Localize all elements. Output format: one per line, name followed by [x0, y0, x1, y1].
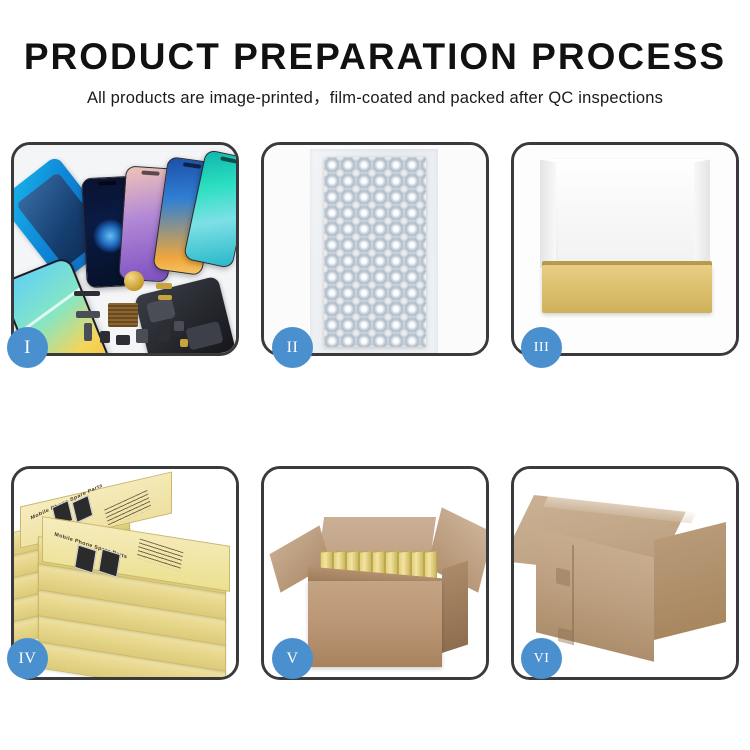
carton-seam: [572, 545, 574, 645]
notch-icon: [98, 181, 116, 186]
part-small: [158, 327, 170, 341]
step-badge-3: III: [521, 327, 562, 368]
carton-body: [308, 581, 442, 667]
lid-flap-right: [694, 160, 710, 271]
part-bar: [152, 311, 172, 319]
product-preparation-infographic: PRODUCT PREPARATION PROCESS All products…: [0, 0, 750, 750]
step-badge-6: VI: [521, 638, 562, 679]
notch-icon: [220, 156, 236, 164]
carton-tab: [556, 567, 570, 586]
part-flex-gold: [158, 295, 172, 300]
phone-screen-fan: [76, 153, 236, 293]
step-badge-2: II: [272, 327, 313, 368]
part-small: [84, 323, 92, 341]
bubble-wrap-texture: [324, 157, 426, 347]
step-1-photo: [14, 145, 236, 353]
step-3-photo: [514, 145, 736, 353]
step-panel-2: [261, 142, 489, 356]
carton-right-face: [654, 522, 726, 640]
part-bar: [76, 311, 100, 318]
part-flex-gold: [156, 283, 172, 289]
part-screw: [180, 339, 188, 347]
carton-side-panel: [442, 561, 468, 653]
step-4-photo: Mobile Phone Spare Parts Mobile Phone Sp…: [14, 469, 236, 677]
step-badge-4: IV: [7, 638, 48, 679]
part-small: [174, 321, 184, 331]
lid-flap-left: [540, 160, 556, 271]
step-badge-1: I: [7, 327, 48, 368]
part-small: [100, 331, 110, 343]
step-panel-1: [11, 142, 239, 356]
step-2-photo: [264, 145, 486, 353]
kraft-tray: [542, 265, 712, 313]
box-stack: Mobile Phone Spare Parts Mobile Phone Sp…: [14, 475, 236, 677]
notch-icon: [141, 171, 159, 176]
speaker-part: [124, 271, 144, 291]
spare-parts-cluster: [70, 277, 200, 353]
part-small: [116, 335, 130, 345]
step-panel-3: [511, 142, 739, 356]
notch-icon: [183, 162, 201, 168]
part-strip: [74, 291, 100, 296]
step-badge-5: V: [272, 638, 313, 679]
part-small: [136, 329, 148, 343]
part-connector-grid: [108, 303, 138, 327]
steps-grid: I II III: [0, 0, 750, 750]
